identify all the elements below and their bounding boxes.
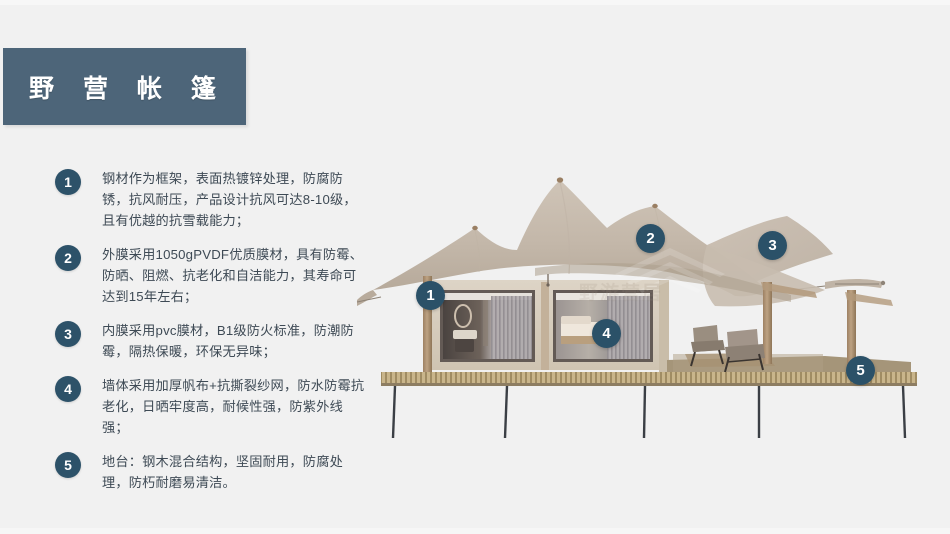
list-item: 1 钢材作为框架，表面热镀锌处理，防腐防锈，抗风耐压，产品设计抗风可达8-10级… (55, 168, 365, 231)
feature-text-3: 内膜采用pvc膜材，B1级防火标准，防潮防霉，隔热保暖，环保无异味； (102, 320, 365, 362)
feature-text-4: 墙体采用加厚帆布+抗撕裂纱网，防水防霉抗老化，日晒牢度高，耐候性强，防紫外线强； (102, 375, 365, 438)
list-item: 3 内膜采用pvc膜材，B1级防火标准，防潮防霉，隔热保暖，环保无异味； (55, 320, 365, 362)
feature-badge-4: 4 (55, 376, 81, 402)
title-banner: 野 营 帐 篷 (3, 48, 246, 125)
callout-marker-1[interactable]: 1 (416, 281, 445, 310)
list-item: 2 外膜采用1050gPVDF优质膜材，具有防霉、防晒、阻燃、抗老化和自洁能力，… (55, 244, 365, 307)
feature-text-2: 外膜采用1050gPVDF优质膜材，具有防霉、防晒、阻燃、抗老化和自洁能力，其寿… (102, 244, 365, 307)
feature-list: 1 钢材作为框架，表面热镀锌处理，防腐防锈，抗风耐压，产品设计抗风可达8-10级… (55, 168, 365, 506)
callout-marker-2[interactable]: 2 (636, 224, 665, 253)
list-item: 5 地台：钢木混合结构，坚固耐用，防腐处理，防朽耐磨易清洁。 (55, 451, 365, 493)
callout-marker-4[interactable]: 4 (592, 319, 621, 348)
feature-badge-1: 1 (55, 169, 81, 195)
feature-text-1: 钢材作为框架，表面热镀锌处理，防腐防锈，抗风耐压，产品设计抗风可达8-10级，且… (102, 168, 365, 231)
callout-marker-5[interactable]: 5 (846, 356, 875, 385)
callout-marker-3[interactable]: 3 (758, 231, 787, 260)
slide-root: 野 营 帐 篷 1 钢材作为框架，表面热镀锌处理，防腐防锈，抗风耐压，产品设计抗… (0, 0, 950, 534)
feature-badge-2: 2 (55, 245, 81, 271)
feature-badge-3: 3 (55, 321, 81, 347)
feature-badge-5: 5 (55, 452, 81, 478)
feature-text-5: 地台：钢木混合结构，坚固耐用，防腐处理，防朽耐磨易清洁。 (102, 451, 365, 493)
page-title: 野 营 帐 篷 (29, 69, 227, 105)
list-item: 4 墙体采用加厚帆布+抗撕裂纱网，防水防霉抗老化，日晒牢度高，耐候性强，防紫外线… (55, 375, 365, 438)
